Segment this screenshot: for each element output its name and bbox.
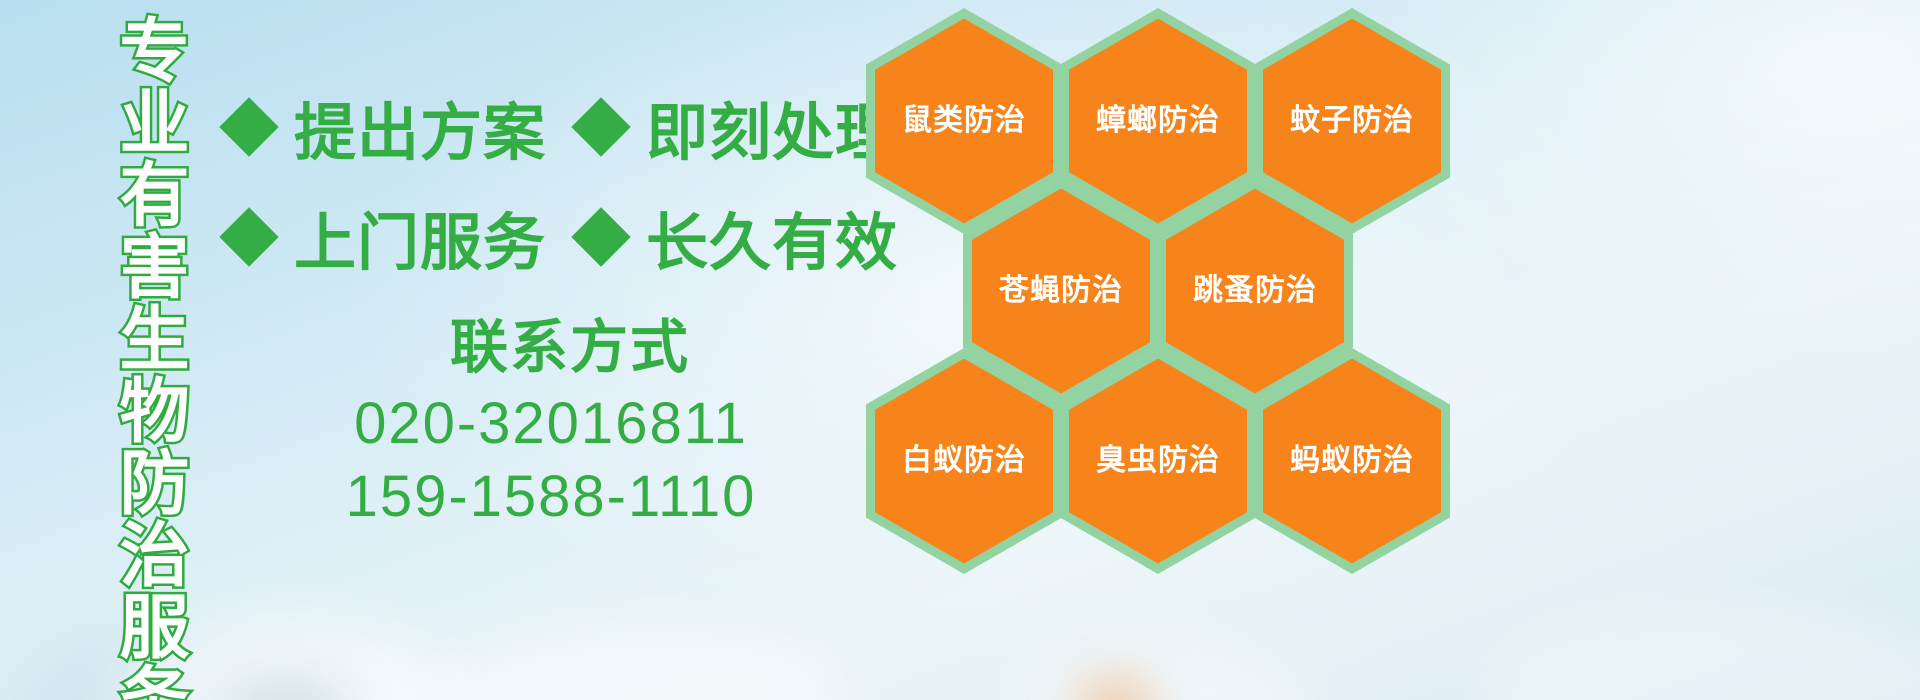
service-label: 蟑螂防治	[1096, 106, 1220, 136]
feature-label-onsite-service: 上门服务	[294, 192, 546, 282]
hex-inner-fill: 白蚁防治	[875, 359, 1053, 564]
feature-row-top: 提出方案 即刻处理	[228, 82, 898, 172]
service-label: 跳蚤防治	[1193, 276, 1317, 306]
diamond-bullet-icon	[219, 207, 278, 266]
phone-number-mobile[interactable]: 159-1588-1110	[252, 462, 850, 533]
vertical-headline: 专业有害生物防治服务	[100, 14, 184, 700]
background-blur-blob	[430, 620, 850, 700]
service-hexagon-cluster: 鼠类防治 蟑螂防治 蚊子防治 苍蝇防治 跳蚤防治 白蚁防治	[858, 0, 1458, 560]
service-label: 鼠类防治	[902, 106, 1026, 136]
background-blur-blob	[1010, 638, 1310, 700]
background-blur-blob	[1080, 680, 1150, 700]
service-label: 蚂蚁防治	[1290, 446, 1414, 476]
background-blur-blob	[230, 676, 350, 700]
contact-block: 联系方式 020-32016811 159-1588-1110	[230, 318, 850, 532]
hex-inner-fill: 蚊子防治	[1263, 19, 1441, 224]
service-label: 臭虫防治	[1096, 446, 1220, 476]
diamond-bullet-icon	[571, 207, 630, 266]
hex-inner-fill: 臭虫防治	[1069, 359, 1247, 564]
hex-inner-fill: 蚂蚁防治	[1263, 359, 1441, 564]
service-label: 蚊子防治	[1290, 106, 1414, 136]
hex-inner-fill: 跳蚤防治	[1166, 189, 1344, 394]
hex-inner-fill: 鼠类防治	[875, 19, 1053, 224]
diamond-bullet-icon	[219, 97, 278, 156]
background-blur-blob	[1480, 610, 1920, 700]
hex-inner-fill: 蟑螂防治	[1069, 19, 1247, 224]
contact-title: 联系方式	[290, 318, 850, 379]
service-label: 白蚁防治	[902, 446, 1026, 476]
feature-label-propose-plan: 提出方案	[294, 82, 546, 172]
hex-inner-fill: 苍蝇防治	[972, 189, 1150, 394]
phone-number-landline[interactable]: 020-32016811	[252, 389, 850, 460]
diamond-bullet-icon	[571, 97, 630, 156]
service-label: 苍蝇防治	[999, 276, 1123, 306]
pest-control-banner: 专业有害生物防治服务 提出方案 即刻处理 上门服务 长久有效 联系方式 020-…	[0, 0, 1920, 700]
feature-row-bottom: 上门服务 长久有效	[228, 192, 898, 282]
